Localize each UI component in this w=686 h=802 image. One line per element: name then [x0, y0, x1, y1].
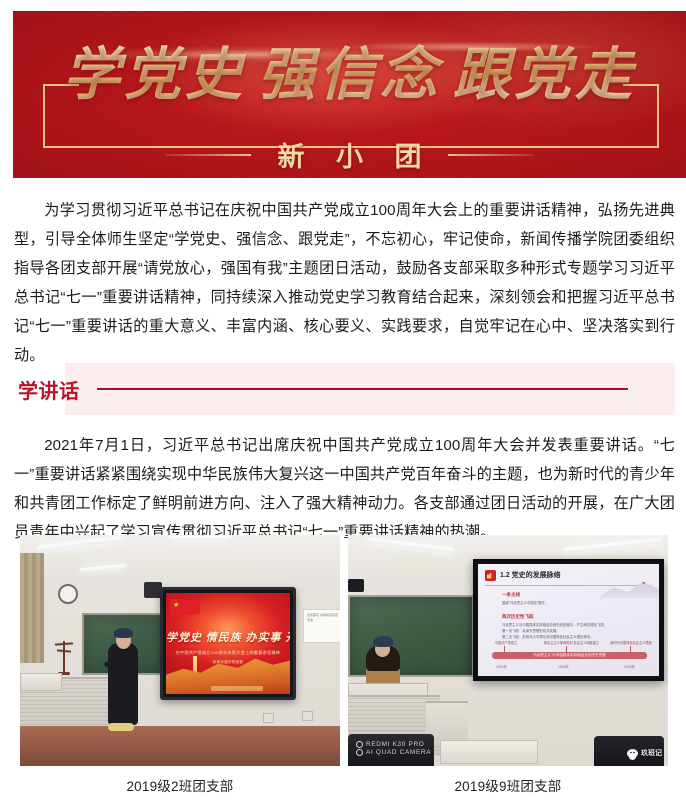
banner-title-part-3: 跟党走	[447, 44, 642, 107]
wall-outlet-2	[302, 711, 313, 721]
banner-dash-right	[448, 154, 534, 156]
banner-subtitle-row: 新 小 团	[13, 135, 686, 174]
classroom-floor	[20, 726, 340, 766]
coat-rack	[55, 641, 73, 675]
photo-class-2019-9: 1.2 党史的发展脉络 一条主线 围绕“马克思主义中国化”展开。 两次历史性飞跃…	[348, 535, 668, 766]
slide-section-body-1: 围绕“马克思主义中国化”展开。	[502, 600, 548, 606]
speech-paragraph: 2021年7月1日，习近平总书记出席庆祝中国共产党成立100周年大会并发表重要讲…	[14, 431, 675, 547]
slide-title-rule	[485, 585, 652, 586]
projection-screen: 1.2 党史的发展脉络 一条主线 围绕“马克思主义中国化”展开。 两次历史性飞跃…	[473, 559, 664, 681]
presenter-cap	[373, 636, 393, 647]
wechat-account-watermark: 玖班记	[627, 748, 662, 758]
slide-footer-bar	[211, 686, 263, 691]
hero-banner: 学党史强信念跟党走 新 小 团	[13, 11, 686, 178]
timeline-bar: 马克思主义 与中国具体实际相结合的历史进程	[492, 652, 647, 659]
presenter-body	[108, 643, 138, 725]
classroom-ceiling	[20, 535, 340, 572]
photo-caption-left: 2019级2班团支部	[20, 775, 340, 795]
slide-title: 学党史 情民族 办实事 开新局	[166, 629, 290, 645]
photo-caption-right: 2019级9班团支部	[348, 775, 668, 795]
slide-section-body-2: 马克思主义与中国具体实际相结合的历史进程中，产生两次理论飞跃； 第一次飞跃：毛泽…	[502, 622, 607, 640]
slide-subtitle: 在中国共产党成立100周年庆祝大会上的重要讲话精神	[166, 650, 290, 656]
banner-dash-left	[165, 154, 251, 156]
section-heading-text: 学讲话	[18, 375, 80, 404]
wall-monitor	[348, 579, 364, 592]
front-desk	[20, 673, 62, 691]
section-heading-rule	[97, 388, 628, 390]
timeline-year-1: 1921年	[496, 664, 507, 669]
timeline-mark-3: 新时代中国特色社会主义思想	[608, 640, 654, 645]
camera-lens-icon-2	[356, 749, 363, 756]
party-emblem-icon	[485, 570, 496, 581]
slide-subtitle-2: 新闻传播学院团委	[166, 660, 290, 665]
wechat-icon	[627, 749, 638, 758]
wechat-account-name: 玖班记	[641, 748, 662, 758]
slide-section-heading-1: 一条主线	[502, 592, 520, 598]
timeline-mark-2: 新民主主义革命胜利 社会主义制度建立	[544, 640, 590, 645]
presenter-cap	[114, 628, 133, 638]
window-curtain	[20, 553, 44, 663]
timeline-mark-1: 中国共产党成立	[486, 640, 526, 645]
wall-notice: 注意事项 请保持实验室清洁	[303, 609, 340, 643]
banner-title-part-2: 强信念	[252, 44, 447, 107]
intro-paragraph: 为学习贯彻习近平总书记在庆祝中国共产党成立100周年大会上的重要讲话精神，弘扬先…	[14, 196, 675, 370]
wall-clock	[58, 584, 78, 604]
photo-class-2019-2: ★ 学党史 情民族 办实事 开新局 在中国共产党成立100周年庆祝大会上的重要讲…	[20, 535, 340, 766]
slide-title: 1.2 党史的发展脉络	[500, 570, 561, 580]
camera-watermark-line-1: REDMI K30 PRO	[356, 741, 431, 749]
camera-lens-icon	[356, 741, 363, 748]
coat-rack-pole	[63, 641, 65, 675]
presentation-slide: 1.2 党史的发展脉络 一条主线 围绕“马克思主义中国化”展开。 两次历史性飞跃…	[478, 564, 659, 676]
camera-watermark-line-2: AI QUAD CAMERA	[356, 749, 431, 757]
flag-star-icon: ★	[173, 602, 179, 609]
slide-section-heading-2: 两次历史性飞跃	[502, 614, 534, 620]
camera-watermark: REDMI K30 PRO AI QUAD CAMERA	[356, 741, 431, 757]
presentation-slide: ★ 学党史 情民族 办实事 开新局 在中国共产党成立100周年庆祝大会上的重要讲…	[166, 593, 290, 694]
timeline-year-2: 1949年	[558, 664, 569, 669]
timeline-year-3: 1978年	[624, 664, 635, 669]
wall-outlet	[263, 713, 274, 723]
slide-decoration-graphic	[597, 578, 659, 598]
banner-title: 学党史强信念跟党走	[13, 29, 686, 111]
banner-title-part-1: 学党史	[57, 44, 252, 107]
banner-subtitle: 新 小 团	[265, 135, 433, 174]
section-heading-study-speech: 学讲话	[0, 363, 686, 415]
smart-display: ★ 学党史 情民族 办实事 开新局 在中国共产党成立100周年庆祝大会上的重要讲…	[160, 587, 296, 700]
student-desk	[440, 740, 538, 764]
ceiling-light-3	[170, 536, 230, 540]
presenter-shoes	[108, 723, 134, 731]
timeline-label: 马克思主义 与中国具体实际相结合的历史进程	[492, 653, 647, 658]
